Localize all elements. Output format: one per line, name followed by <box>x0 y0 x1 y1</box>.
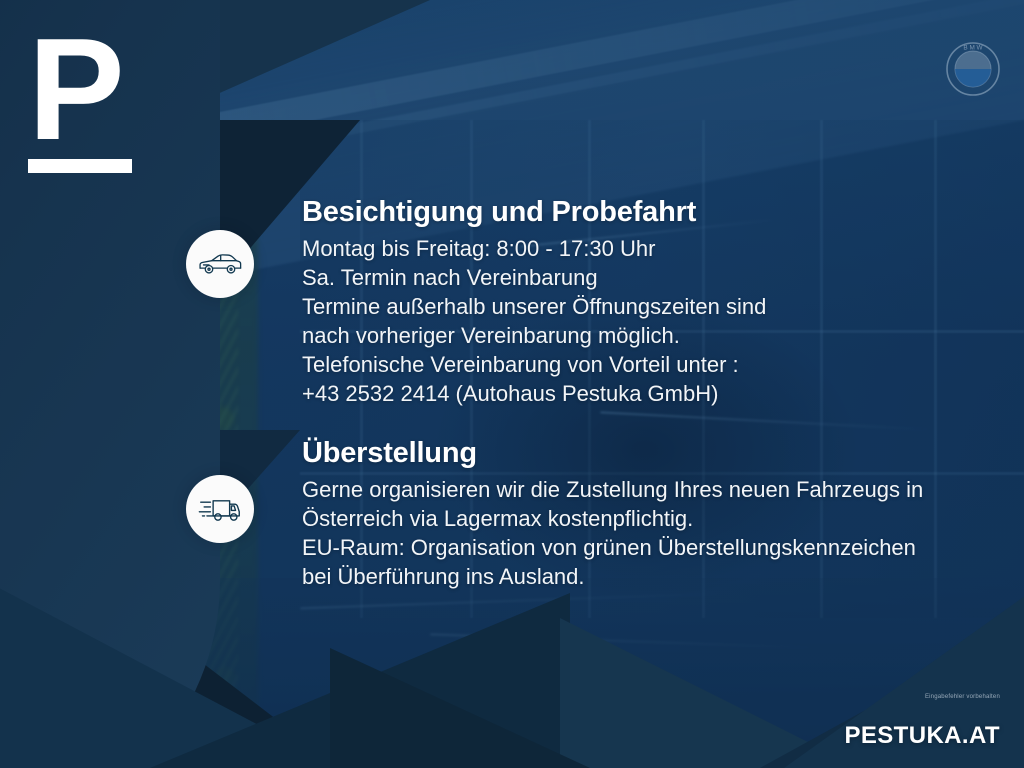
besichtigung-line-4: nach vorheriger Vereinbarung möglich. <box>302 321 766 350</box>
besichtigung-phone: +43 2532 2414 (Autohaus Pestuka GmbH) <box>302 379 766 408</box>
content-area: Besichtigung und Probefahrt Montag bis F… <box>0 0 1024 768</box>
ueberstellung-line-2: Österreich via Lagermax kostenpflichtig. <box>302 504 923 533</box>
ueberstellung-line-1: Gerne organisieren wir die Zustellung Ih… <box>302 475 923 504</box>
ueberstellung-text: Überstellung Gerne organisieren wir die … <box>302 437 923 591</box>
besichtigung-line-2: Sa. Termin nach Vereinbarung <box>302 263 766 292</box>
ueberstellung-heading: Überstellung <box>302 437 923 470</box>
slide-canvas: P B M W <box>0 0 1024 768</box>
besichtigung-line-1: Montag bis Freitag: 8:00 - 17:30 Uhr <box>302 234 766 263</box>
section-ueberstellung: Überstellung Gerne organisieren wir die … <box>186 437 923 591</box>
car-icon <box>186 230 254 298</box>
delivery-truck-icon <box>186 475 254 543</box>
besichtigung-text: Besichtigung und Probefahrt Montag bis F… <box>302 196 766 408</box>
section-besichtigung: Besichtigung und Probefahrt Montag bis F… <box>186 196 766 408</box>
ueberstellung-line-4: bei Überführung ins Ausland. <box>302 562 923 591</box>
besichtigung-heading: Besichtigung und Probefahrt <box>302 196 766 229</box>
disclaimer-text: Eingabefehler vorbehalten <box>925 694 1000 700</box>
ueberstellung-line-3: EU-Raum: Organisation von grünen Überste… <box>302 533 923 562</box>
besichtigung-line-5: Telefonische Vereinbarung von Vorteil un… <box>302 350 766 379</box>
brand-wordmark: PESTUKA.AT <box>844 722 1000 750</box>
besichtigung-line-3: Termine außerhalb unserer Öffnungszeiten… <box>302 292 766 321</box>
